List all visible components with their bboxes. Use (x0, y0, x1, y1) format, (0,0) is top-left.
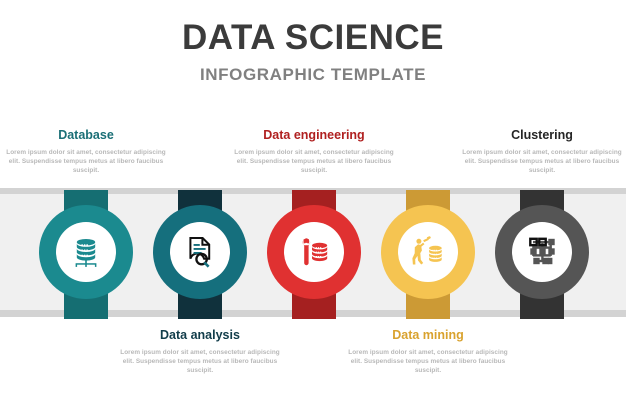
infographic-canvas: DATA SCIENCE INFOGRAPHIC TEMPLATE (0, 0, 626, 417)
step-description-clustering: Lorem ipsum dolor sit amet, consectetur … (457, 148, 626, 176)
step-circle-data-engineering[interactable] (267, 205, 361, 299)
title-block: DATA SCIENCE INFOGRAPHIC TEMPLATE (0, 18, 626, 86)
step-description-data-engineering: Lorem ipsum dolor sit amet, consectetur … (229, 148, 399, 176)
step-circle-clustering[interactable] (495, 205, 589, 299)
step-label-data-engineering: Data engineering (229, 128, 399, 143)
step-circle-database[interactable] (39, 205, 133, 299)
step-description-data-analysis: Lorem ipsum dolor sit amet, consectetur … (115, 348, 285, 376)
step-circle-inner (512, 222, 572, 282)
step-circle-data-mining[interactable] (381, 205, 475, 299)
step-label-database: Database (1, 128, 171, 143)
step-text-data-mining: Data mining Lorem ipsum dolor sit amet, … (343, 328, 513, 376)
step-circle-inner (398, 222, 458, 282)
step-label-data-mining: Data mining (343, 328, 513, 343)
page-title: DATA SCIENCE (0, 18, 626, 58)
step-circle-inner (284, 222, 344, 282)
network-cluster-icon (525, 235, 559, 269)
step-circle-inner (56, 222, 116, 282)
step-circle-data-analysis[interactable] (153, 205, 247, 299)
document-search-icon (183, 235, 217, 269)
step-text-data-analysis: Data analysis Lorem ipsum dolor sit amet… (115, 328, 285, 376)
step-circle-inner (170, 222, 230, 282)
page-subtitle: INFOGRAPHIC TEMPLATE (0, 64, 626, 86)
step-description-database: Lorem ipsum dolor sit amet, consectetur … (1, 148, 171, 176)
step-text-data-engineering: Data engineering Lorem ipsum dolor sit a… (229, 128, 399, 176)
wrench-database-icon (297, 235, 331, 269)
step-text-database: Database Lorem ipsum dolor sit amet, con… (1, 128, 171, 176)
miner-database-icon (411, 235, 445, 269)
step-description-data-mining: Lorem ipsum dolor sit amet, consectetur … (343, 348, 513, 376)
step-label-clustering: Clustering (457, 128, 626, 143)
step-label-data-analysis: Data analysis (115, 328, 285, 343)
step-text-clustering: Clustering Lorem ipsum dolor sit amet, c… (457, 128, 626, 176)
database-stack-icon (69, 235, 103, 269)
